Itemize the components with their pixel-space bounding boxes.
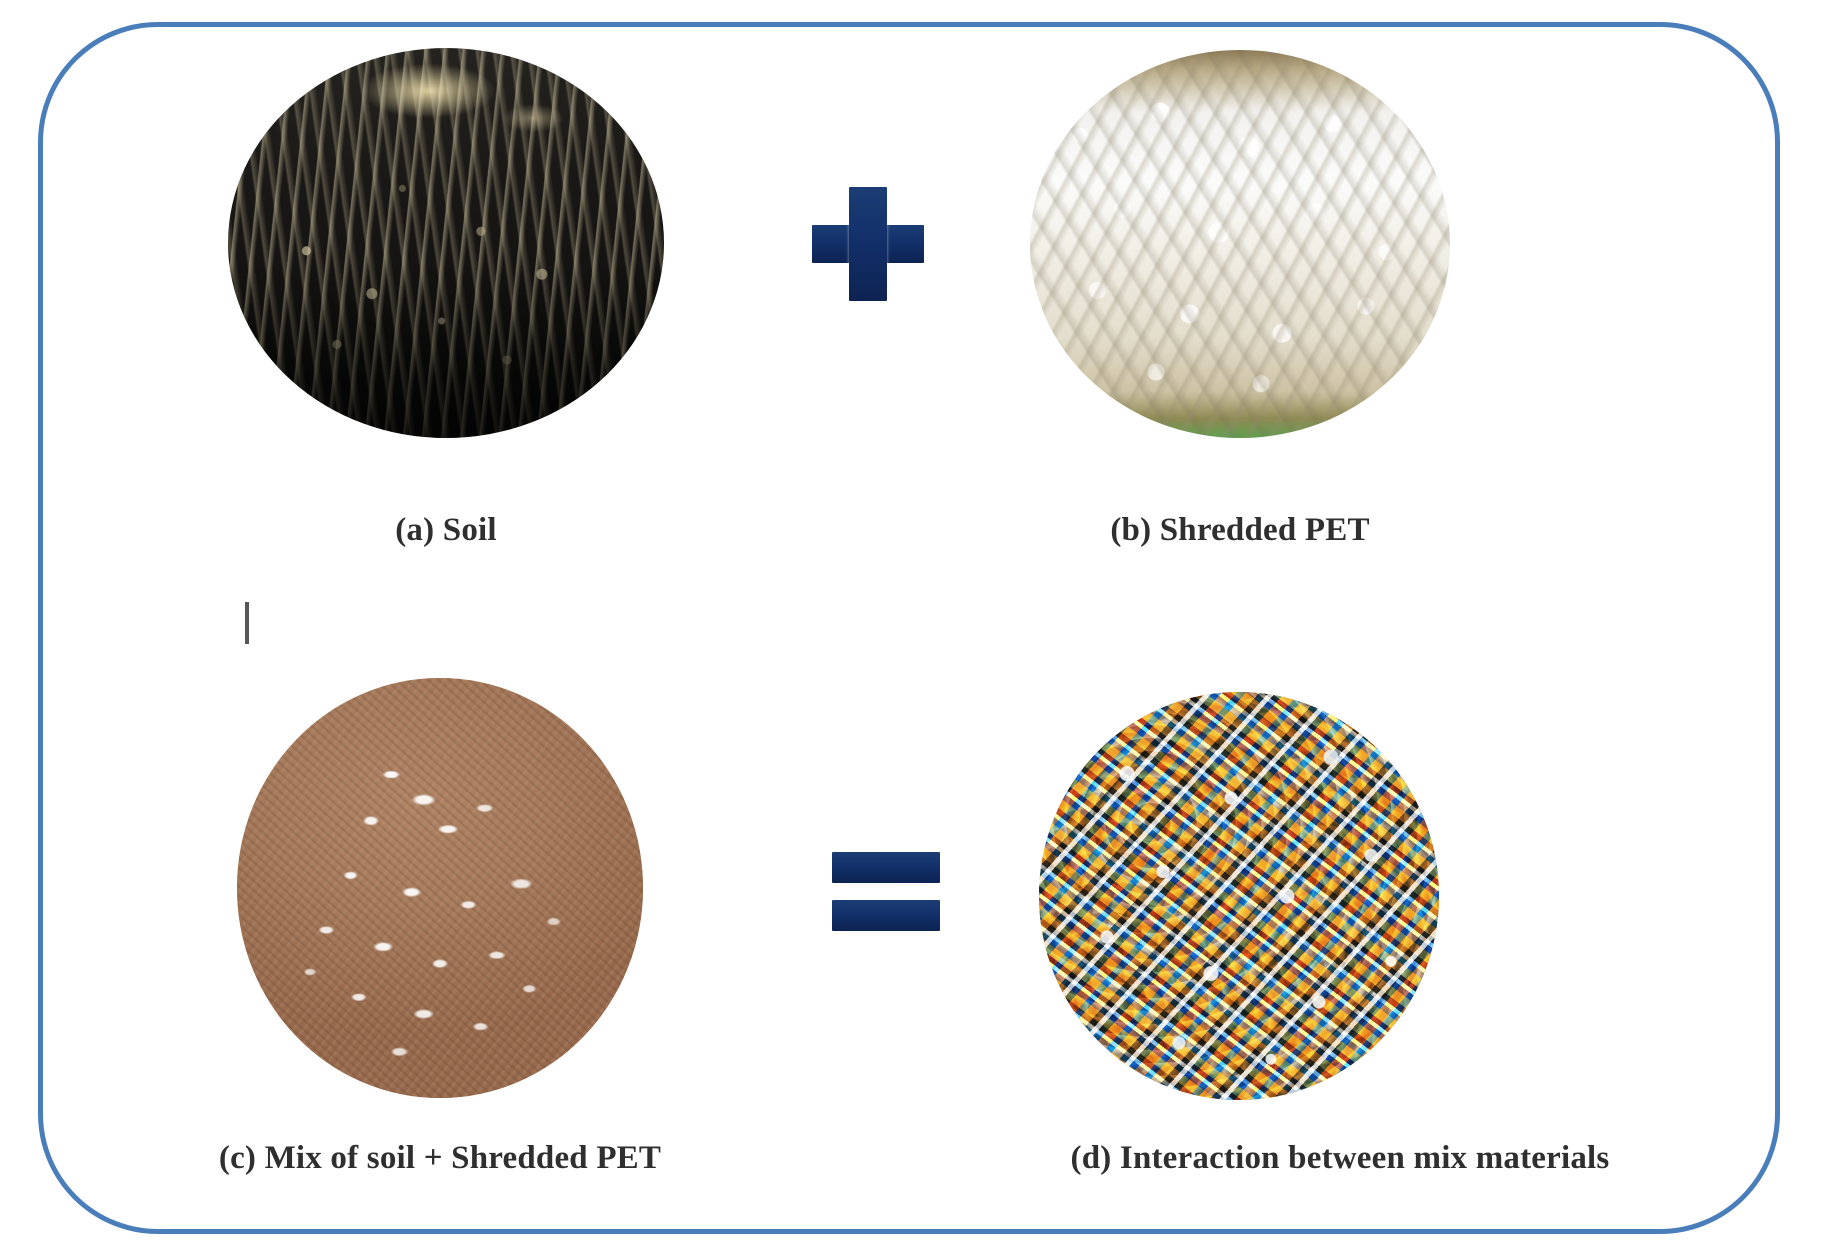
equals-icon — [832, 846, 940, 938]
panel-d — [1039, 692, 1439, 1100]
equals-top-bar — [832, 852, 940, 883]
stray-cursor-artifact — [245, 602, 249, 644]
panel-c — [237, 678, 643, 1098]
caption-d: (d) Interaction between mix materials — [1000, 1140, 1680, 1177]
panel-a — [228, 48, 664, 438]
caption-b: (b) Shredded PET — [1020, 512, 1460, 549]
caption-c: (c) Mix of soil + Shredded PET — [160, 1140, 720, 1177]
equals-bottom-bar — [832, 900, 940, 931]
panel-b — [1030, 50, 1450, 438]
shredded-pet-photo — [1030, 50, 1450, 438]
mix-vignette-layer — [237, 678, 643, 1098]
interaction-highlight-layer — [1039, 692, 1439, 1100]
pet-rim-layer — [1030, 50, 1450, 438]
plus-icon — [808, 185, 928, 303]
soil-photo — [228, 48, 664, 438]
soil-pet-mix-photo — [237, 678, 643, 1098]
caption-a: (a) Soil — [228, 512, 664, 549]
soil-shadow-layer — [228, 48, 664, 438]
plus-vertical-bar — [849, 187, 887, 301]
interaction-photo — [1039, 692, 1439, 1100]
figure-root: (a) Soil (b) Shredded PET (c) Mix of soi… — [0, 0, 1821, 1260]
